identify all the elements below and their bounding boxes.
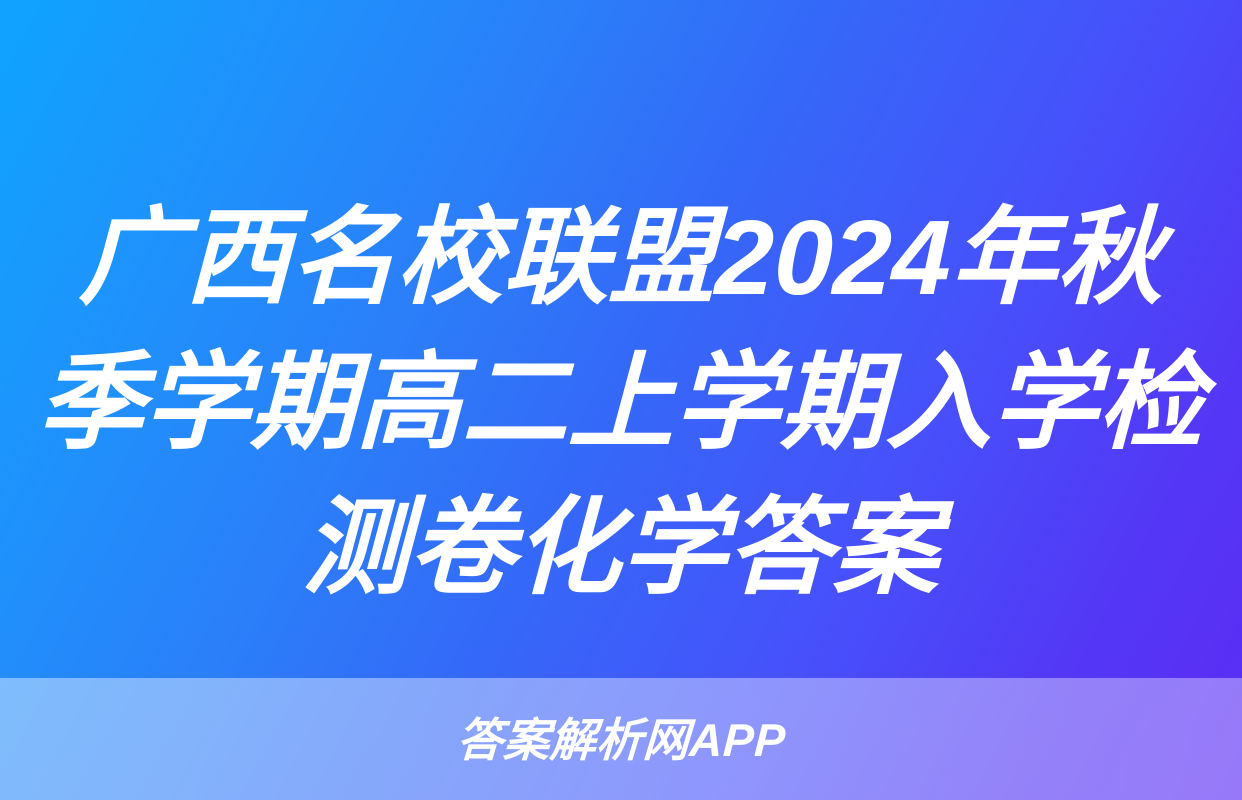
watermark-band: 答案解析网APP bbox=[0, 678, 1242, 800]
title-line-2: 季学期高二上学期入学检 bbox=[37, 331, 1206, 476]
watermark-text: 答案解析网APP bbox=[455, 717, 786, 763]
title-line-1: 广西名校联盟2024年秋 bbox=[78, 186, 1164, 331]
poster-canvas: 广西名校联盟2024年秋 季学期高二上学期入学检 测卷化学答案 答案解析网APP bbox=[0, 0, 1242, 800]
title-line-3: 测卷化学答案 bbox=[302, 476, 941, 621]
page-title: 广西名校联盟2024年秋 季学期高二上学期入学检 测卷化学答案 bbox=[0, 186, 1242, 621]
